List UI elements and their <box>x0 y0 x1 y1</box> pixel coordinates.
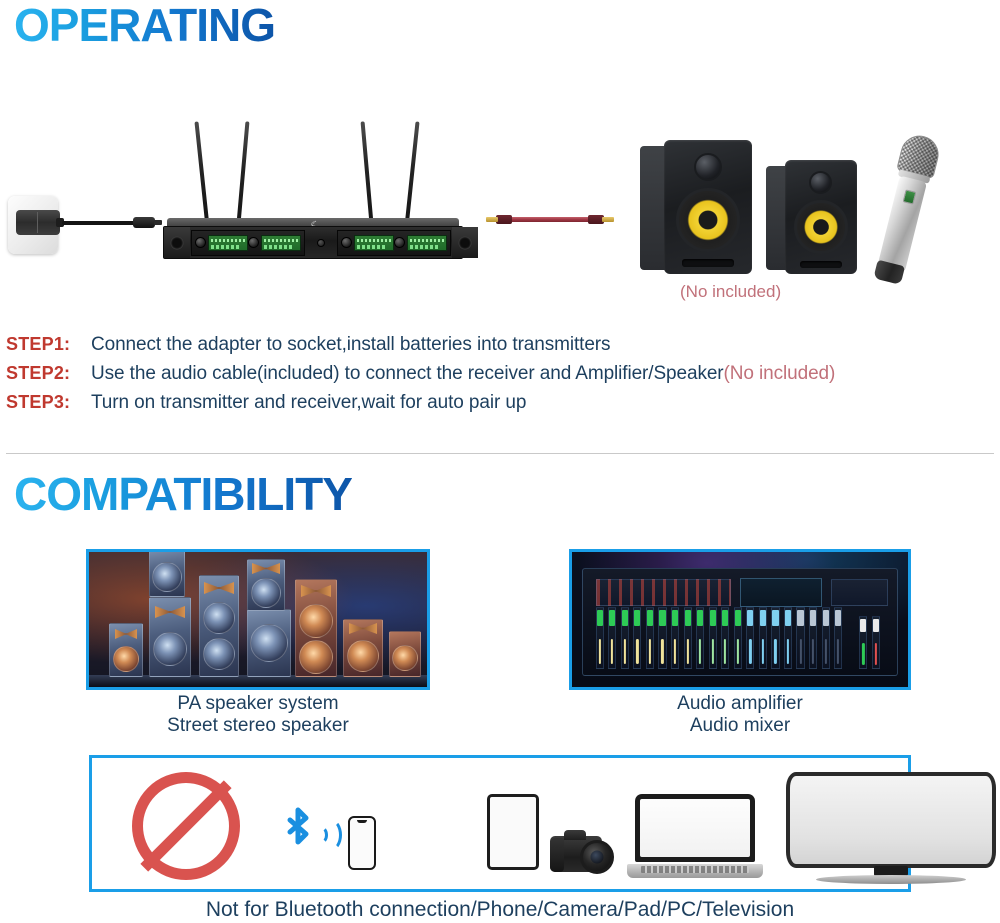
pa-horn <box>301 585 331 597</box>
mixer-channel-strip <box>784 607 792 668</box>
speaker-right <box>766 160 858 277</box>
speaker-left-port <box>682 259 734 267</box>
receiver-front-panel <box>163 226 463 259</box>
strip-led <box>672 610 678 625</box>
not-compatible-panel <box>89 755 911 892</box>
pa-cabinet <box>247 609 291 677</box>
pa-driver <box>347 640 379 672</box>
pa-cabinet <box>389 631 421 677</box>
mixer-channel-strip <box>608 607 616 668</box>
rack-receiver: ℭ <box>163 114 463 259</box>
cable-tip-right <box>602 217 614 222</box>
strip-fader <box>611 639 613 664</box>
pa-speaker-photo-panel <box>86 549 430 690</box>
step-text: Use the audio cable(included) to connect… <box>91 363 835 385</box>
strip-led <box>647 610 653 625</box>
microphone-body <box>877 176 927 273</box>
laptop-screen <box>640 799 750 857</box>
pa-horn <box>155 606 185 618</box>
pa-driver <box>392 645 418 671</box>
strip-led <box>797 610 803 625</box>
television-stand <box>816 875 966 884</box>
pa-driver <box>113 646 139 672</box>
channel-3-knob <box>341 237 352 248</box>
mixer-master-strip <box>859 616 867 669</box>
mixer-channel-strip <box>759 607 767 668</box>
phone-icon <box>348 816 376 870</box>
strip-fader <box>862 643 864 664</box>
bluetooth-glyph <box>280 806 316 862</box>
speakers-not-included-note: (No included) <box>680 282 781 302</box>
channel-3 <box>341 235 394 251</box>
strip-fader <box>875 643 877 664</box>
speaker-left-baffle <box>664 140 752 274</box>
channel-1 <box>195 235 248 251</box>
strip-fader <box>837 639 839 664</box>
mixer-channel-strip <box>596 607 604 668</box>
strip-led <box>735 610 741 625</box>
microphone-display <box>903 189 917 204</box>
pa-horn <box>252 563 280 574</box>
speaker-right-port <box>800 261 842 268</box>
strip-led <box>710 610 716 625</box>
rack-ear-right <box>452 227 478 258</box>
mixer-channel-strip <box>734 607 742 668</box>
laptop-keyboard <box>641 866 749 873</box>
strip-led <box>785 610 791 625</box>
mixer-channel-strip <box>771 607 779 668</box>
strip-led <box>747 610 753 625</box>
mixer-console-surface <box>582 568 898 676</box>
channel-1-knob <box>195 237 206 248</box>
rack-ear-left <box>164 227 190 258</box>
mixer-channel-strip <box>834 607 842 668</box>
channel-2 <box>248 235 301 251</box>
prohibition-icon <box>132 772 240 880</box>
mixer-channel-strip <box>658 607 666 668</box>
adapter-prongs-face <box>16 210 60 235</box>
strip-fader <box>812 639 814 664</box>
compatibility-section-title: COMPATIBILITY <box>14 471 352 517</box>
adapter-barrel-connector <box>133 217 155 228</box>
power-button-icon <box>317 239 325 247</box>
pa-cabinet <box>199 575 239 677</box>
strip-led <box>722 610 728 625</box>
strip-led <box>772 610 778 625</box>
strip-led <box>760 610 766 625</box>
mixer-channel-strip <box>621 607 629 668</box>
power-adapter <box>8 196 64 258</box>
strip-fader <box>649 639 651 664</box>
mixer-caption-line-2: Audio mixer <box>540 715 940 737</box>
pa-caption-line-2: Street stereo speaker <box>58 715 458 737</box>
operating-section-title: OPERATING <box>14 2 275 48</box>
mixer-channel-strip <box>809 607 817 668</box>
step-label: STEP2: <box>6 363 91 384</box>
mixer-channel-strip <box>822 607 830 668</box>
speaker-left-woofer <box>676 188 740 252</box>
rack-mount-hole <box>459 236 472 249</box>
step-row: STEP2: Use the audio cable(included) to … <box>6 363 996 385</box>
strip-led <box>810 610 816 625</box>
mixer-knob-section <box>596 579 731 607</box>
strip-led <box>634 610 640 625</box>
pa-cabinet <box>149 597 191 677</box>
mixer-channel-strip <box>796 607 804 668</box>
section-divider <box>6 453 994 454</box>
strip-led <box>860 619 866 632</box>
cable-wire <box>500 217 600 222</box>
speaker-left-tweeter <box>694 153 722 181</box>
strip-led <box>873 619 879 632</box>
mixer-caption-line-1: Audio amplifier <box>540 693 940 715</box>
mixer-panel-caption: Audio amplifier Audio mixer <box>540 693 940 738</box>
monitor-speakers <box>640 140 840 277</box>
tablet-icon <box>487 794 539 870</box>
speaker-left <box>640 140 752 277</box>
camera-grip <box>550 838 564 872</box>
strip-fader <box>636 639 638 664</box>
strip-led <box>622 610 628 625</box>
pa-caption-line-1: PA speaker system <box>58 693 458 715</box>
cable-tip-left <box>486 217 498 222</box>
strip-fader <box>799 639 801 664</box>
pa-driver <box>203 602 235 634</box>
audio-mixer-photo-panel <box>569 549 911 690</box>
channel-4-knob <box>394 237 405 248</box>
step-label: STEP1: <box>6 334 91 355</box>
mixer-master-strip <box>872 616 880 669</box>
step-text-main: Connect the adapter to socket,install ba… <box>91 334 610 355</box>
mixer-channel-strip <box>684 607 692 668</box>
step-row: STEP3: Turn on transmitter and receiver,… <box>6 392 996 414</box>
channel-4 <box>394 235 447 251</box>
not-compatible-caption: Not for Bluetooth connection/Phone/Camer… <box>0 898 1000 922</box>
mixer-channel-strip <box>671 607 679 668</box>
receiver-channels-left <box>191 230 305 256</box>
laptop-icon <box>627 794 763 878</box>
channel-3-display <box>354 235 394 251</box>
strip-fader <box>825 639 827 664</box>
bluetooth-wave-2 <box>320 819 342 851</box>
strip-led <box>659 610 665 625</box>
pa-driver <box>153 632 187 666</box>
pa-horn <box>204 582 234 594</box>
pa-cabinet <box>247 559 285 611</box>
strip-fader <box>624 639 626 664</box>
pa-panel-caption: PA speaker system Street stereo speaker <box>58 693 458 738</box>
television-icon <box>786 772 996 884</box>
receiver-channels-right <box>337 230 451 256</box>
operating-diagram: ℭ <box>0 96 1000 326</box>
operating-steps-list: STEP1: Connect the adapter to socket,ins… <box>6 334 996 421</box>
strip-fader <box>737 639 739 664</box>
camera-lens <box>580 840 614 874</box>
strip-fader <box>674 639 676 664</box>
strip-led <box>597 610 603 625</box>
pa-driver <box>299 640 333 674</box>
bluetooth-icon <box>280 806 316 862</box>
pa-cabinet <box>109 623 143 677</box>
strip-fader <box>749 639 751 664</box>
laptop-lid <box>635 794 755 862</box>
strip-led <box>609 610 615 625</box>
handheld-wireless-microphone <box>867 131 946 287</box>
pa-driver <box>251 578 281 608</box>
speaker-right-baffle <box>785 160 857 274</box>
mixer-aux-section <box>831 579 887 607</box>
adapter-dc-cable <box>62 221 140 225</box>
pa-driver <box>299 604 333 638</box>
strip-fader <box>699 639 701 664</box>
television-screen <box>786 772 996 868</box>
step-note: (No included) <box>724 363 836 384</box>
mixer-channel-strip <box>696 607 704 668</box>
camera-icon <box>550 830 616 876</box>
camera-viewfinder <box>564 830 586 840</box>
strip-fader <box>724 639 726 664</box>
channel-4-display <box>407 235 447 251</box>
step-row: STEP1: Connect the adapter to socket,ins… <box>6 334 996 356</box>
step-text-main: Use the audio cable(included) to connect… <box>91 363 724 384</box>
pa-horn <box>115 629 137 639</box>
audio-cable <box>486 212 614 228</box>
pa-horn <box>349 623 377 634</box>
pa-cabinet <box>295 579 337 677</box>
step-text: Connect the adapter to socket,install ba… <box>91 334 610 356</box>
strip-led <box>697 610 703 625</box>
pa-driver <box>203 638 235 670</box>
strip-fader <box>712 639 714 664</box>
mixer-channel-strip <box>646 607 654 668</box>
mixer-channel-strip <box>746 607 754 668</box>
mixer-channel-strip <box>709 607 717 668</box>
strip-fader <box>762 639 764 664</box>
cable-plug-left <box>496 215 512 224</box>
channel-2-knob <box>248 237 259 248</box>
rack-mount-hole <box>171 236 184 249</box>
strip-fader <box>787 639 789 664</box>
strip-led <box>685 610 691 625</box>
pa-cabinet <box>343 619 383 677</box>
receiver-center-controls <box>306 230 336 256</box>
speaker-right-tweeter <box>809 171 832 194</box>
strip-fader <box>686 639 688 664</box>
pa-cabinet <box>149 549 185 597</box>
step-text-main: Turn on transmitter and receiver,wait fo… <box>91 392 526 413</box>
strip-fader <box>774 639 776 664</box>
step-text: Turn on transmitter and receiver,wait fo… <box>91 392 526 414</box>
step-label: STEP3: <box>6 392 91 413</box>
strip-led <box>835 610 841 625</box>
speaker-right-woofer <box>794 200 848 254</box>
mixer-channel-strip <box>721 607 729 668</box>
mixer-channel-strip <box>633 607 641 668</box>
strip-fader <box>661 639 663 664</box>
channel-2-display <box>261 235 301 251</box>
pa-driver <box>250 624 288 662</box>
channel-1-display <box>208 235 248 251</box>
mixer-display-screen <box>740 578 822 608</box>
strip-led <box>823 610 829 625</box>
pa-driver <box>152 562 182 592</box>
strip-fader <box>599 639 601 664</box>
